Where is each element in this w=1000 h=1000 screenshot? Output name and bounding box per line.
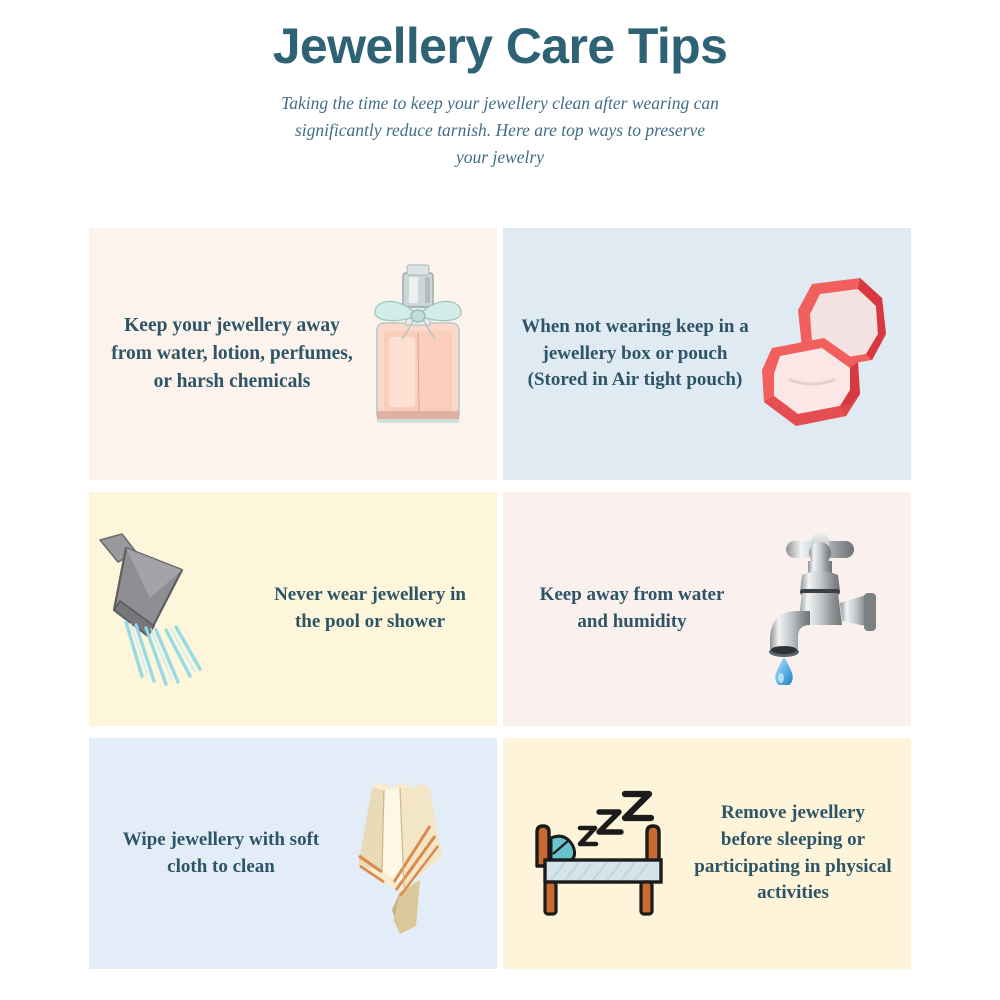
card-water-humidity-text: Keep away from water and humidity <box>503 582 741 636</box>
card-sleep-activity-art <box>503 738 693 969</box>
card-storage-art <box>753 228 911 480</box>
card-sleep-activity-text: Remove jewellery before sleeping or part… <box>693 800 911 908</box>
card-pool-shower-text: Never wear jewellery in the pool or show… <box>263 582 497 636</box>
page-title: Jewellery Care Tips <box>0 0 1000 76</box>
card-wipe-cloth-art <box>329 738 497 969</box>
perfume-bottle-icon <box>359 261 477 447</box>
card-chemicals[interactable]: Keep your jewellery away from water, lot… <box>89 228 497 480</box>
tips-grid: Keep your jewellery away from water, lot… <box>89 228 911 969</box>
infographic-page: Jewellery Care Tips Taking the time to k… <box>0 0 1000 1000</box>
card-storage[interactable]: When not wearing keep in a jewellery box… <box>503 228 911 480</box>
card-water-humidity[interactable]: Keep away from water and humidity <box>503 492 911 726</box>
card-chemicals-text: Keep your jewellery away from water, lot… <box>89 312 355 395</box>
page-subtitle: Taking the time to keep your jewellery c… <box>280 76 720 171</box>
shower-head-icon <box>96 524 262 694</box>
card-wipe-cloth[interactable]: Wipe jewellery with soft cloth to clean <box>89 738 497 969</box>
card-pool-shower-art <box>89 492 263 726</box>
card-pool-shower[interactable]: Never wear jewellery in the pool or show… <box>89 492 497 726</box>
ring-box-icon <box>754 276 900 432</box>
card-sleep-activity[interactable]: Remove jewellery before sleeping or part… <box>503 738 911 969</box>
card-water-humidity-art <box>741 492 911 726</box>
bed-sleeping-icon <box>525 788 685 920</box>
card-wipe-cloth-text: Wipe jewellery with soft cloth to clean <box>89 827 329 881</box>
card-chemicals-art <box>355 228 497 480</box>
card-storage-text: When not wearing keep in a jewellery box… <box>503 314 753 395</box>
faucet-icon <box>754 533 886 685</box>
header: Jewellery Care Tips Taking the time to k… <box>0 0 1000 171</box>
cloth-icon <box>338 774 462 934</box>
